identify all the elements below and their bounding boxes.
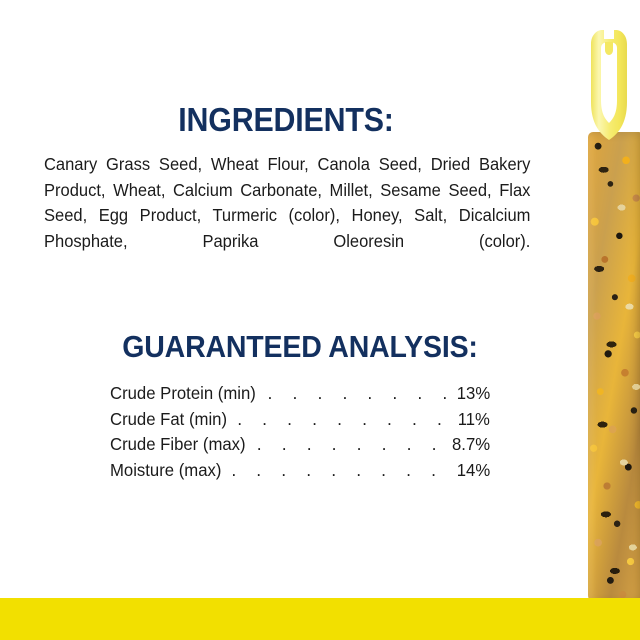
- analysis-value: 11%: [458, 407, 490, 433]
- bottom-yellow-band: [0, 598, 640, 640]
- yellow-hanger-clip: [588, 28, 630, 148]
- analysis-label: Moisture (max): [110, 458, 221, 484]
- seed-stick-image: [588, 132, 640, 604]
- table-row: Crude Fat (min) . . . . . . . . . . . . …: [110, 407, 490, 433]
- dot-leader: . . . . . . . . . . . . . . . . . . . . …: [268, 381, 451, 407]
- analysis-label: Crude Fat (min): [110, 407, 227, 433]
- guaranteed-analysis-table: Crude Protein (min) . . . . . . . . . . …: [110, 381, 490, 483]
- table-row: Crude Protein (min) . . . . . . . . . . …: [110, 381, 490, 407]
- analysis-value: 13%: [457, 381, 490, 407]
- seed-stick-product-photo: [580, 0, 640, 606]
- dot-leader: . . . . . . . . . . . . . . . . . . . . …: [231, 458, 450, 484]
- analysis-value: 8.7%: [452, 432, 490, 458]
- dot-leader: . . . . . . . . . . . . . . . . . . . . …: [257, 432, 446, 458]
- seed-texture-overlay: [588, 132, 640, 604]
- guaranteed-analysis-heading: GUARANTEED ANALYSIS:: [24, 329, 576, 365]
- analysis-value: 14%: [457, 458, 490, 484]
- dot-leader: . . . . . . . . . . . . . . . . . . . . …: [237, 407, 452, 433]
- ingredients-heading: INGREDIENTS:: [23, 101, 549, 139]
- bottom-yellow-band-right: [580, 598, 640, 640]
- label-text-column: INGREDIENTS: Canary Grass Seed, Wheat Fl…: [0, 0, 572, 598]
- ingredients-body-text: Canary Grass Seed, Wheat Flour, Canola S…: [44, 152, 530, 280]
- table-row: Crude Fiber (max) . . . . . . . . . . . …: [110, 432, 490, 458]
- product-label-panel: INGREDIENTS: Canary Grass Seed, Wheat Fl…: [0, 0, 640, 640]
- analysis-label: Crude Fiber (max): [110, 432, 246, 458]
- analysis-label: Crude Protein (min): [110, 381, 256, 407]
- table-row: Moisture (max) . . . . . . . . . . . . .…: [110, 458, 490, 484]
